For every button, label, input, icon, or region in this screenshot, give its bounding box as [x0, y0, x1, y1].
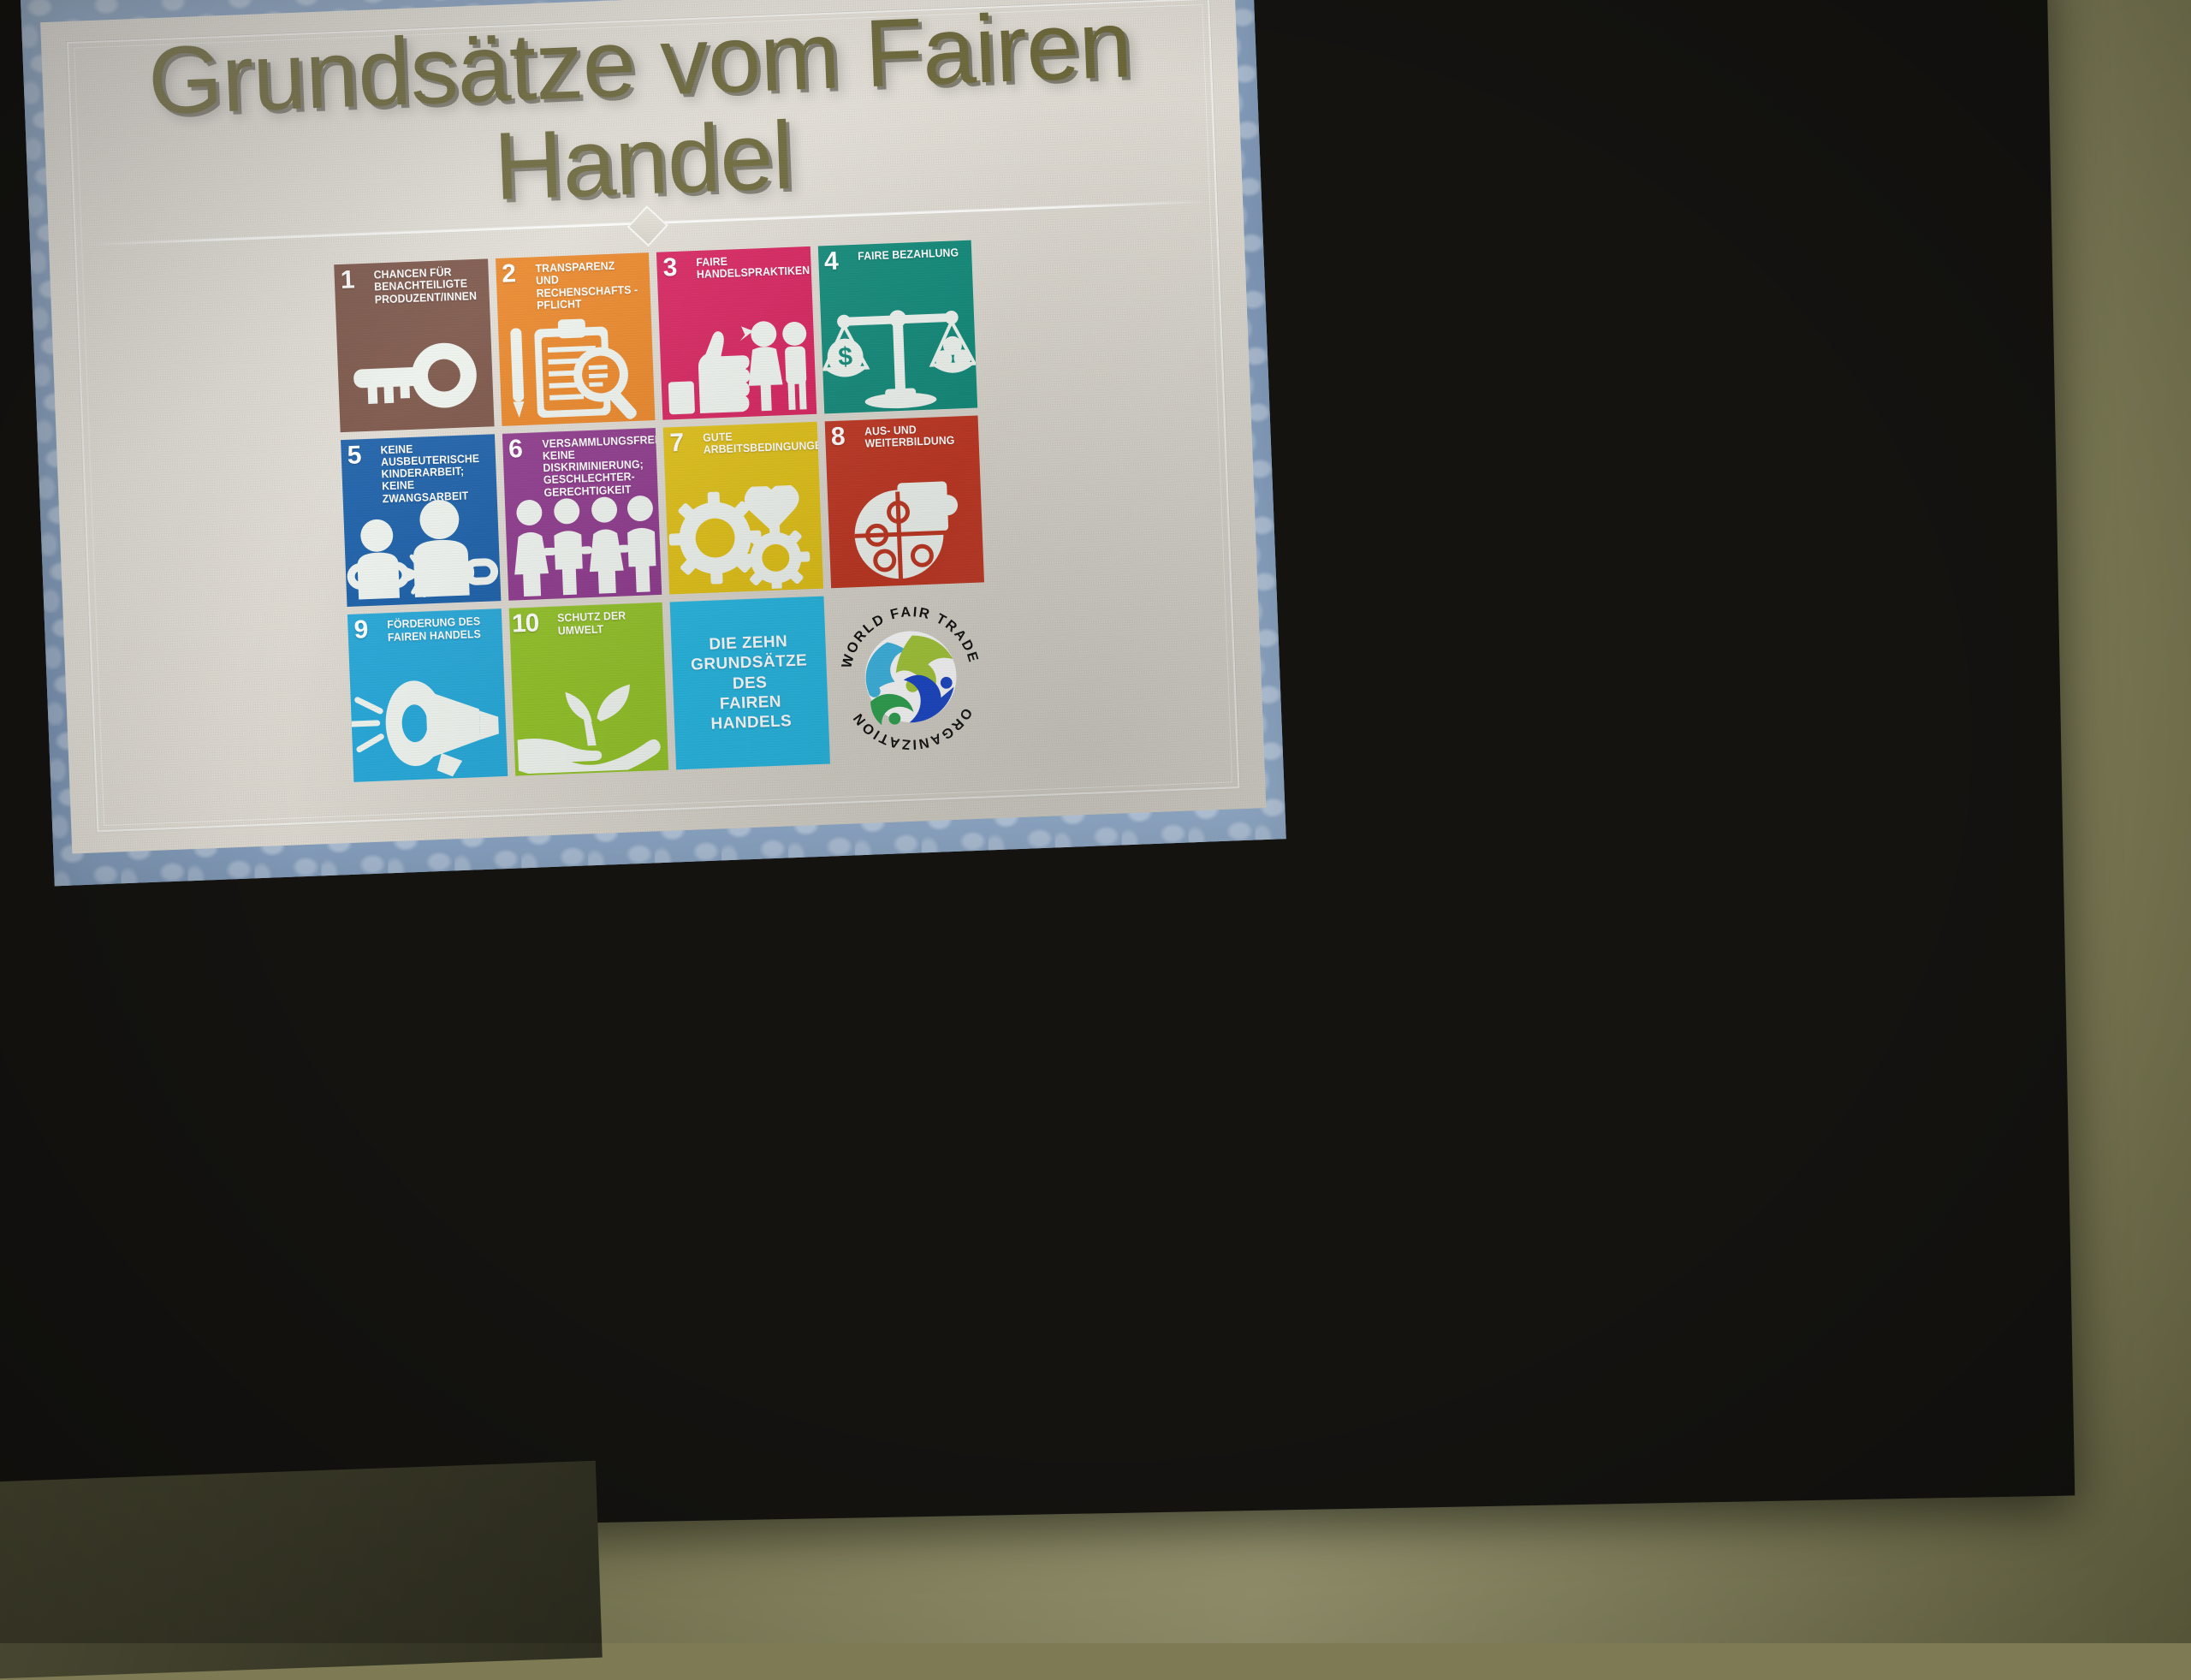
tile-number: 4 — [823, 249, 838, 276]
tile-label: FAIRE HANDELSPRAKTIKEN — [696, 252, 799, 281]
principle-tile-9: 9 FÖRDERUNG DES FAIREN HANDELS — [347, 608, 508, 781]
tile-number: 2 — [502, 261, 516, 288]
world-fair-trade-organization-logo: WORLD FAIR TRADE ORGANIZATION — [834, 601, 987, 753]
principle-tile-1: 1 CHANCEN FÜR BENACHTEILIGTE PRODUZENT/I… — [334, 258, 494, 431]
tile-label: GUTE ARBEITSBEDINGUNGEN — [703, 428, 806, 456]
tile-label: SCHUTZ DER UMWELT — [556, 609, 651, 638]
tile-label: CHANCEN FÜR BENACHTEILIGTE PRODUZENT/INN… — [373, 265, 477, 306]
principle-tile-7: 7 GUTE ARBEITSBEDINGUNGEN — [663, 421, 823, 594]
tile-number: 6 — [508, 436, 523, 463]
projection-screen-bezel: Grundsätze vom Fairen Handel 1 CHANCEN F… — [0, 0, 2075, 1534]
clipboard-magnifier-icon — [497, 316, 655, 424]
thumbs-up-people-icon — [659, 310, 816, 419]
summary-tile: DIE ZEHN GRUNDSÄTZE DES FAIREN HANDELS — [670, 597, 830, 769]
principle-tile-5: 5 KEINE AUSBEUTERISCHE KINDERARBEIT; KEI… — [341, 434, 501, 607]
tile-number: 5 — [347, 442, 361, 469]
ten-principles-grid: 1 CHANCEN FÜR BENACHTEILIGTE PRODUZENT/I… — [334, 240, 991, 782]
table-foreground — [0, 1461, 603, 1680]
four-people-icon — [504, 490, 662, 599]
tile-number: 10 — [511, 611, 539, 638]
tile-label: VERSAMMLUNGSFREIHEIT; KEINE DISKRIMINIER… — [542, 434, 646, 499]
slide-patterned-border: Grundsätze vom Fairen Handel 1 CHANCEN F… — [21, 0, 1286, 886]
principle-tile-4: 4 FAIRE BEZAHLUNG — [817, 240, 977, 413]
photo-scene: Grundsätze vom Fairen Handel 1 CHANCEN F… — [0, 0, 2191, 1643]
tile-label: KEINE AUSBEUTERISCHE KINDERARBEIT; KEINE… — [380, 440, 484, 505]
broken-chain-icon — [343, 497, 501, 606]
tile-number: 3 — [662, 255, 677, 282]
tile-label: FAIRE BEZAHLUNG — [858, 246, 960, 263]
principle-tile-2: 2 TRANSPARENZ UND RECHENSCHAFTS - PFLICH… — [496, 252, 656, 425]
tile-number: 8 — [830, 424, 845, 450]
hand-sprout-icon — [511, 666, 668, 775]
summary-line-4: FAIREN HANDELS — [677, 690, 825, 735]
presentation-slide: Grundsätze vom Fairen Handel 1 CHANCEN F… — [40, 0, 1266, 854]
principle-tile-10: 10 SCHUTZ DER UMWELT — [508, 603, 668, 775]
tile-number: 9 — [353, 617, 368, 644]
tile-number: 1 — [340, 267, 354, 294]
gears-heart-icon — [666, 484, 823, 593]
key-icon — [336, 322, 494, 430]
tile-number: 7 — [669, 430, 684, 456]
principle-tile-8: 8 AUS- UND WEITERBILDUNG — [824, 415, 984, 588]
puzzle-circle-icon — [827, 478, 984, 587]
slide-title: Grundsätze vom Fairen Handel — [92, 0, 1191, 231]
balance-scale-icon: $ — [820, 303, 977, 412]
principle-tile-6: 6 VERSAMMLUNGSFREIHEIT; KEINE DISKRIMINI… — [502, 428, 662, 601]
wfto-logo-tile: WORLD FAIR TRADE ORGANIZATION — [831, 591, 991, 763]
tile-label: AUS- UND WEITERBILDUNG — [864, 422, 967, 450]
summary-tile-text: DIE ZEHN GRUNDSÄTZE DES FAIREN HANDELS — [671, 631, 828, 736]
svg-text:$: $ — [837, 342, 852, 371]
tile-label: FÖRDERUNG DES FAIREN HANDELS — [387, 615, 490, 644]
megaphone-icon — [350, 672, 508, 781]
principle-tile-3: 3 FAIRE HANDELSPRAKTIKEN — [656, 246, 816, 419]
tile-label: TRANSPARENZ UND RECHENSCHAFTS - PFLICHT — [535, 259, 639, 312]
